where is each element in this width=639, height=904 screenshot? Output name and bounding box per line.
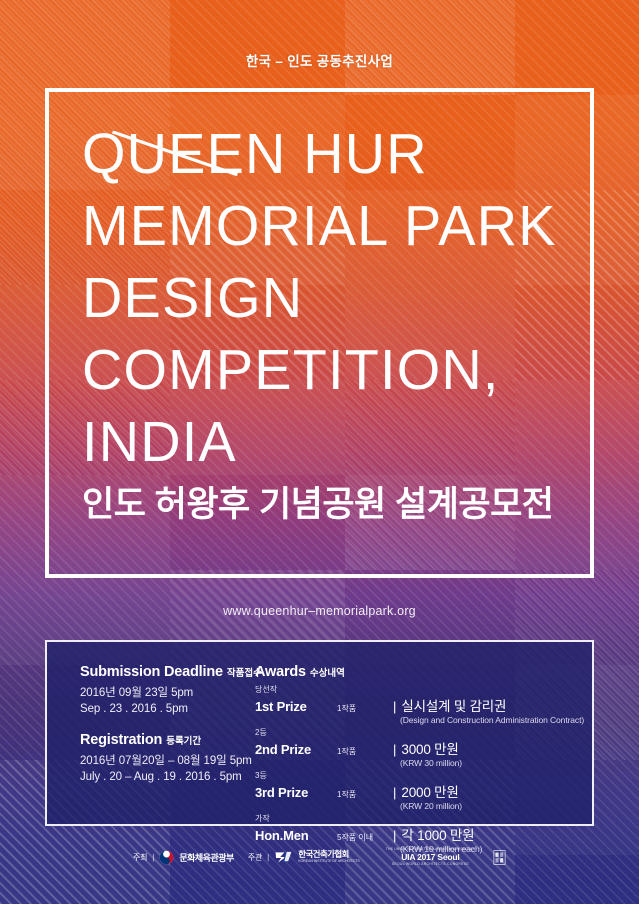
award-count: 5작품 이내 [337, 832, 393, 843]
website-url[interactable]: www.queenhur–memorialpark.org [0, 604, 639, 618]
title-block: QUEEN HUR MEMORIAL PARK DESIGN COMPETITI… [82, 118, 582, 528]
award-subtext: (KRW 20 million) [400, 801, 592, 812]
award-row: 2등 2nd Prize 1작품 | 3000 만원 (KRW 30 milli… [255, 728, 592, 769]
host-group: 주최 | 문화체육관광부 [133, 850, 234, 865]
organizer-label: 주관 [248, 852, 262, 863]
host-org-name: 문화체육관광부 [179, 851, 233, 864]
title-line-2: MEMORIAL PARK [82, 190, 572, 262]
registration-date-ko: 2016년 07월20일 – 08월 19일 5pm [80, 753, 247, 769]
award-separator: | [393, 699, 396, 714]
award-value: 실시설계 및 감리권 [401, 695, 506, 715]
taegeuk-icon [159, 850, 174, 865]
registration-date-en: July . 20 – Aug . 19 . 2016 . 5pm [80, 769, 247, 785]
footer: 주최 | 문화체육관광부 주관 | 한국건축가협회 KOREAN INSTITU… [0, 848, 639, 866]
award-separator: | [393, 828, 396, 843]
award-count: 1작품 [337, 789, 393, 800]
award-rank-ko: 2등 [255, 728, 592, 738]
title-line-1-text: QUEEN HUR [82, 122, 428, 186]
uia-emblem-icon [493, 850, 506, 865]
kia-logo-icon [274, 851, 293, 864]
uia-main-text: UIA 2017 Seoul [401, 853, 459, 862]
award-rank-ko: 당선작 [255, 685, 592, 695]
award-value: 2000 만원 [401, 781, 458, 801]
award-rank-ko: 3등 [255, 771, 592, 781]
organizer-separator: | [267, 853, 269, 862]
submission-heading: Submission Deadline작품접수 [80, 664, 247, 680]
award-value: 3000 만원 [401, 738, 458, 758]
uia-bottom-text: SEOUL WORLD ARCHITECTS CONGRESS [392, 863, 469, 866]
award-count: 1작품 [337, 703, 393, 714]
awards-heading: Awards수상내역 [255, 664, 592, 680]
kia-text-block: 한국건축가협회 KOREAN INSTITUTE OF ARCHITECTS [298, 850, 360, 864]
award-subtext: (KRW 30 million) [400, 758, 592, 769]
title-line-4: COMPETITION, [82, 334, 572, 406]
awards-list: 당선작 1st Prize 1작품 | 실시설계 및 감리권 (Design a… [255, 685, 592, 855]
info-panel: Submission Deadline작품접수 2016년 09월 23일 5p… [45, 640, 594, 826]
eyebrow-text: 한국 – 인도 공동추진사업 [0, 50, 639, 70]
organizer-org-sub: KOREAN INSTITUTE OF ARCHITECTS [298, 860, 360, 864]
award-row: 3등 3rd Prize 1작품 | 2000 만원 (KRW 20 milli… [255, 771, 592, 812]
award-subtext: (Design and Construction Administration … [400, 715, 592, 726]
awards-heading-ko: 수상내역 [310, 668, 345, 679]
registration-heading-ko: 등록기간 [166, 736, 201, 747]
submission-date-ko: 2016년 09월 23일 5pm [80, 685, 247, 701]
schedule-column: Submission Deadline작품접수 2016년 09월 23일 5p… [47, 642, 247, 824]
award-name: Hon.Men [255, 828, 337, 843]
q-letter: QUEEN HUR [82, 118, 428, 190]
award-separator: | [393, 785, 396, 800]
awards-heading-en: Awards [255, 664, 306, 680]
award-rank-ko: 가작 [255, 814, 592, 824]
poster: 한국 – 인도 공동추진사업 QUEEN HUR MEMORIAL PARK D… [0, 0, 639, 904]
award-separator: | [393, 742, 396, 757]
submission-date-en: Sep . 23 . 2016 . 5pm [80, 701, 247, 717]
awards-column: Awards수상내역 당선작 1st Prize 1작품 | 실시설계 및 감리… [247, 642, 592, 824]
uia-top-text: THE UNION INTERNATIONALE DES ARCHITECTES [386, 848, 475, 851]
title-line-3: DESIGN [82, 262, 572, 334]
award-name: 3rd Prize [255, 785, 337, 800]
uia-logo-group: THE UNION INTERNATIONALE DES ARCHITECTES… [386, 848, 475, 866]
registration-heading: Registration등록기간 [80, 732, 247, 748]
title-line-5: INDIA [82, 406, 572, 478]
host-separator: | [152, 853, 154, 862]
host-label: 주최 [133, 852, 147, 863]
registration-heading-en: Registration [80, 732, 162, 748]
organizer-org-name: 한국건축가협회 [298, 850, 360, 859]
organizer-group: 주관 | 한국건축가협회 KOREAN INSTITUTE OF ARCHITE… [248, 850, 360, 864]
award-name: 1st Prize [255, 699, 337, 714]
subtitle-korean: 인도 허왕후 기념공원 설계공모전 [82, 482, 582, 528]
award-row: 당선작 1st Prize 1작품 | 실시설계 및 감리권 (Design a… [255, 685, 592, 726]
submission-heading-en: Submission Deadline [80, 664, 223, 680]
award-value: 각 1000 만원 [401, 824, 474, 844]
award-count: 1작품 [337, 746, 393, 757]
title-line-1: QUEEN HUR [82, 118, 572, 190]
award-name: 2nd Prize [255, 742, 337, 757]
